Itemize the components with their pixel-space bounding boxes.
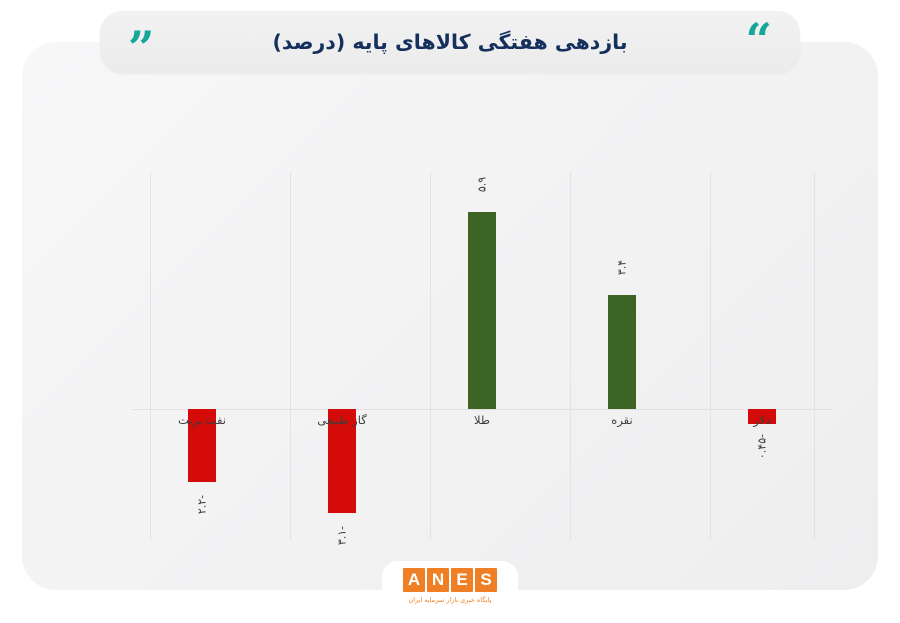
logo-letter-e: E <box>451 568 473 592</box>
page-title: بازدهی هفتگی کالاهای پایه (درصد) <box>272 32 627 53</box>
quote-close-icon: ” <box>128 25 154 71</box>
chart-card: نفت برنتگاز طبیعیطلانقرهدلار -۲.۲-۳.۱۵.۹… <box>22 42 878 590</box>
gridline <box>710 172 711 540</box>
bar-4[interactable] <box>608 295 636 409</box>
gridline <box>430 172 431 540</box>
plot-area: نفت برنتگاز طبیعیطلانقرهدلار -۲.۲-۳.۱۵.۹… <box>132 167 832 547</box>
sena-logo-letters: SENA <box>403 568 497 592</box>
title-banner: “ بازدهی هفتگی کالاهای پایه (درصد) ” <box>100 11 800 73</box>
value-label-3: ۵.۹ <box>476 161 489 207</box>
quote-open-icon: “ <box>746 17 772 63</box>
value-label-5: -۰.۴۵ <box>756 424 769 470</box>
gridline <box>150 172 151 540</box>
category-label-3: طلا <box>422 413 542 427</box>
sena-logo-subtitle: پایگاه خبری بازار سرمایه ایران <box>409 596 492 604</box>
zero-axis-line <box>132 409 832 410</box>
value-label-4: ۳.۴ <box>616 245 629 291</box>
value-label-2: -۳.۱ <box>336 512 349 558</box>
value-label-1: -۲.۲ <box>196 482 209 528</box>
category-label-1: نفت برنت <box>142 413 262 427</box>
gridline <box>290 172 291 540</box>
logo-letter-n: N <box>427 568 449 592</box>
page-root: نفت برنتگاز طبیعیطلانقرهدلار -۲.۲-۳.۱۵.۹… <box>0 0 900 623</box>
logo-letter-s: S <box>475 568 497 592</box>
bar-3[interactable] <box>468 212 496 409</box>
sena-logo: SENA پایگاه خبری بازار سرمایه ایران <box>382 561 518 623</box>
gridline <box>814 172 815 540</box>
category-label-2: گاز طبیعی <box>282 413 402 427</box>
logo-letter-a: A <box>403 568 425 592</box>
category-label-4: نقره <box>562 413 682 427</box>
gridline <box>570 172 571 540</box>
